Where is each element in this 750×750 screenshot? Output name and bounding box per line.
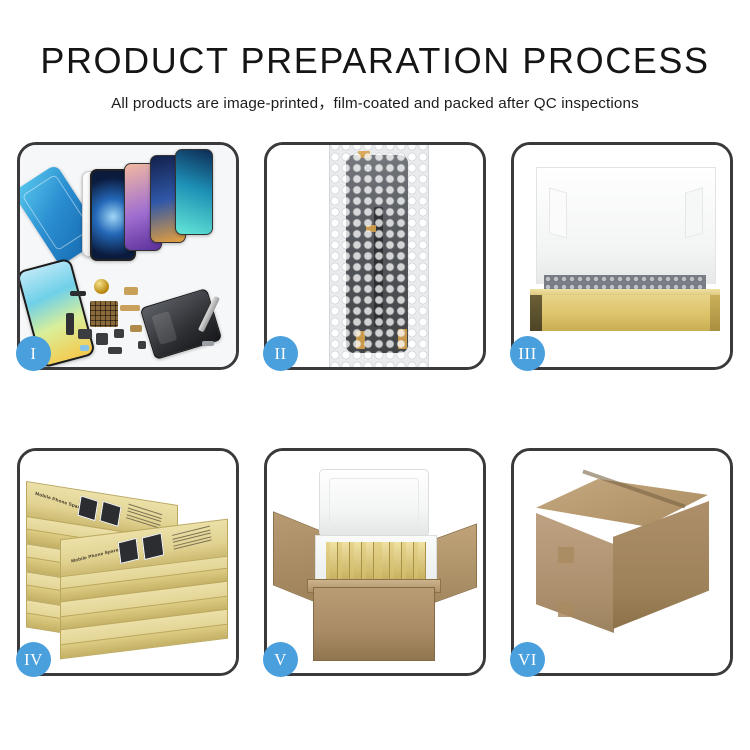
inner-boxes-icon bbox=[326, 542, 426, 584]
small-part-icon bbox=[108, 347, 122, 354]
process-step-4: Mobile Phone Spare Parts Mobile Phone Sp… bbox=[17, 448, 239, 676]
small-part-icon bbox=[130, 325, 142, 332]
page-title: PRODUCT PREPARATION PROCESS bbox=[0, 0, 750, 80]
phone-back-housing-icon bbox=[140, 288, 223, 360]
box-edge-icon bbox=[530, 295, 542, 331]
small-part-icon bbox=[80, 345, 89, 351]
box-label-spec-lines bbox=[172, 526, 212, 553]
page-subtitle: All products are image-printed，film-coat… bbox=[0, 80, 750, 113]
phone-screen-icon bbox=[175, 149, 213, 235]
box-label-window bbox=[99, 501, 121, 527]
box-label-window bbox=[142, 533, 165, 560]
box-label-window bbox=[77, 495, 98, 521]
speaker-part-icon bbox=[94, 279, 109, 294]
small-part-icon bbox=[124, 287, 138, 295]
process-step-5: V bbox=[264, 448, 486, 676]
carton-tape-icon bbox=[558, 547, 574, 563]
small-part-icon bbox=[202, 341, 214, 346]
step-badge-2: II bbox=[263, 336, 298, 371]
step-5-image bbox=[267, 451, 483, 673]
box-stack-icon: Mobile Phone Spare Parts Mobile Phone Sp… bbox=[26, 467, 230, 657]
chip-board-icon bbox=[90, 301, 118, 327]
small-part-icon bbox=[96, 333, 108, 345]
process-step-2: II bbox=[264, 142, 486, 370]
process-step-3: III bbox=[511, 142, 733, 370]
step-badge-1: I bbox=[16, 336, 51, 371]
foam-flap-icon bbox=[549, 187, 567, 238]
small-part-icon bbox=[66, 313, 74, 335]
foam-flap-icon bbox=[685, 187, 703, 238]
step-badge-4: IV bbox=[16, 642, 51, 677]
page-header: PRODUCT PREPARATION PROCESS All products… bbox=[0, 0, 750, 113]
small-part-icon bbox=[120, 305, 140, 311]
step-4-image: Mobile Phone Spare Parts Mobile Phone Sp… bbox=[20, 451, 236, 673]
small-part-icon bbox=[114, 329, 124, 338]
foam-lid-icon bbox=[536, 167, 716, 284]
step-badge-6: VI bbox=[510, 642, 545, 677]
bubble-texture-overlay bbox=[330, 145, 428, 367]
kraft-box-front-icon bbox=[530, 295, 720, 331]
box-edge-icon bbox=[710, 295, 720, 331]
carton-tape-icon bbox=[558, 603, 574, 617]
step-1-image bbox=[20, 145, 236, 367]
step-3-image bbox=[514, 145, 730, 367]
process-step-6: VI bbox=[511, 448, 733, 676]
small-part-icon bbox=[70, 291, 86, 296]
process-step-1: I bbox=[17, 142, 239, 370]
step-2-image bbox=[267, 145, 483, 367]
carton-left-face-icon bbox=[536, 513, 614, 633]
process-step-grid: I II bbox=[17, 142, 733, 676]
small-part-icon bbox=[138, 341, 146, 349]
step-6-image bbox=[514, 451, 730, 673]
small-part-icon bbox=[78, 329, 92, 339]
box-label-window bbox=[118, 538, 140, 564]
step-badge-3: III bbox=[510, 336, 545, 371]
carton-front-icon bbox=[313, 587, 435, 661]
step-badge-5: V bbox=[263, 642, 298, 677]
bubble-wrap-bag-icon bbox=[329, 145, 429, 367]
foam-box-lid-icon bbox=[319, 469, 429, 537]
